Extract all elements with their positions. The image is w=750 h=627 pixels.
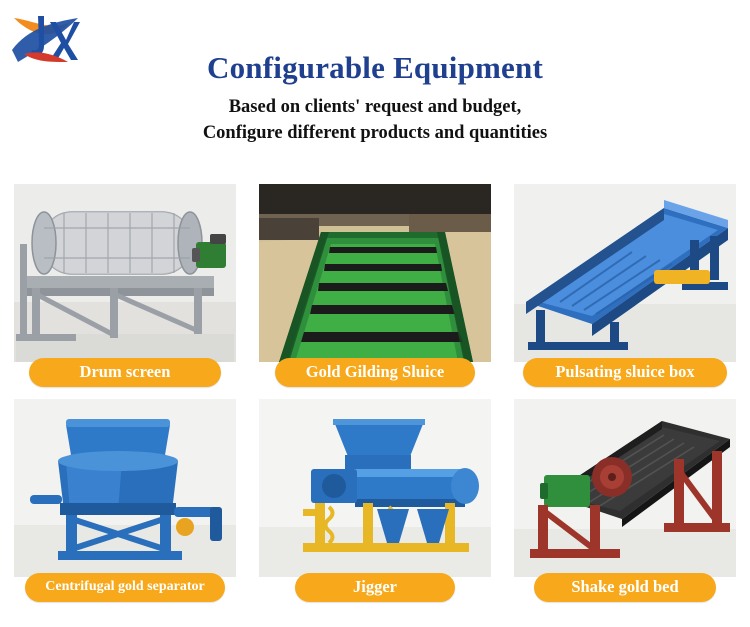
product-card-shake-gold-bed[interactable]: Shake gold bed [514,399,736,604]
product-label-shake-gold-bed[interactable]: Shake gold bed [534,573,716,602]
product-card-pulsating-sluice-box[interactable]: Pulsating sluice box [514,184,736,389]
header: Configurable Equipment Based on clients'… [0,48,750,146]
jigger-photo [259,399,491,577]
product-grid: Drum screen [14,184,736,604]
drum-screen-photo [14,184,236,362]
product-card-centrifugal-gold-separator[interactable]: Centrifugal gold separator [14,399,236,604]
subtitle-line-2: Configure different products and quantit… [0,120,750,146]
product-card-drum-screen[interactable]: Drum screen [14,184,236,389]
centrifugal-gold-separator-photo [14,399,236,577]
product-label-drum-screen[interactable]: Drum screen [29,358,221,387]
product-label-centrifugal-gold-separator[interactable]: Centrifugal gold separator [25,573,225,602]
configurable-equipment-page: Configurable Equipment Based on clients'… [0,0,750,627]
gold-gilding-sluice-photo [259,184,491,362]
pulsating-sluice-box-photo [514,184,736,362]
product-card-jigger[interactable]: Jigger [259,399,491,604]
product-card-gold-gilding-sluice[interactable]: Gold Gilding Sluice [259,184,491,389]
product-label-jigger[interactable]: Jigger [295,573,455,602]
product-label-gold-gilding-sluice[interactable]: Gold Gilding Sluice [275,358,475,387]
product-label-pulsating-sluice-box[interactable]: Pulsating sluice box [523,358,727,387]
shake-gold-bed-photo [514,399,736,577]
subtitle-line-1: Based on clients' request and budget, [0,94,750,120]
page-subtitle: Based on clients' request and budget, Co… [0,94,750,146]
page-title: Configurable Equipment [0,48,750,88]
